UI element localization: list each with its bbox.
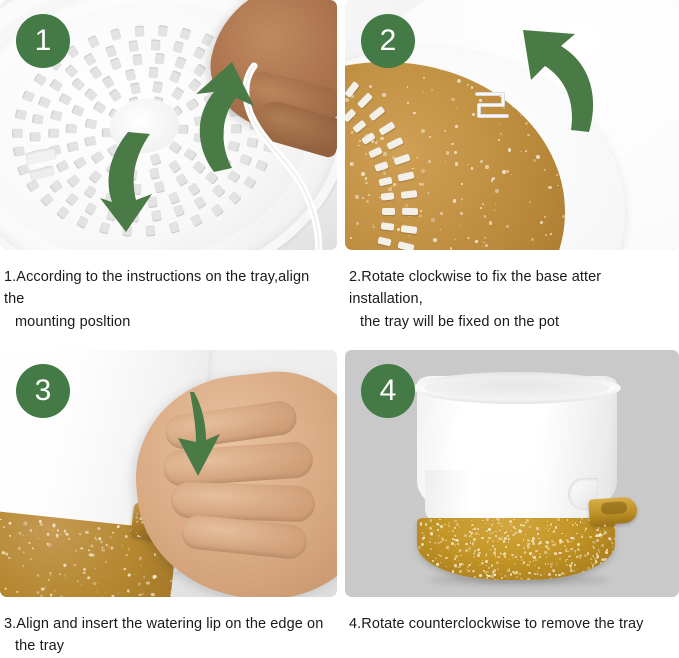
base-speckle xyxy=(547,563,549,565)
base-speckle xyxy=(550,523,553,526)
base-drain-slot xyxy=(378,176,392,186)
base-drain-slot xyxy=(345,108,357,122)
base-speckle xyxy=(491,564,494,567)
base-speckle xyxy=(572,537,574,539)
base-speckle xyxy=(494,579,495,580)
base-speckle xyxy=(128,573,131,576)
base-speckle xyxy=(601,537,602,538)
base-speckle xyxy=(486,518,488,520)
base-speckle xyxy=(494,574,496,576)
base-speckle xyxy=(430,538,431,539)
base-speckle xyxy=(557,518,560,521)
base-speckle xyxy=(500,523,501,524)
step-caption-2: 2.Rotate clockwise to fix the base atter… xyxy=(345,250,679,350)
base-speckle xyxy=(443,578,444,579)
base-speckle xyxy=(453,579,456,580)
base-speckle xyxy=(596,539,599,542)
base-speckle xyxy=(488,537,491,540)
tray-perforation xyxy=(48,129,59,138)
base-speckle xyxy=(4,588,6,590)
base-speckle xyxy=(441,550,442,551)
base-speckle xyxy=(430,532,432,534)
base-speckle xyxy=(566,559,567,560)
tray-perforation xyxy=(180,27,192,40)
base-speckle xyxy=(485,555,487,557)
base-speckle xyxy=(464,534,467,537)
base-speckle xyxy=(504,575,506,577)
base-speckle xyxy=(488,528,491,531)
base-speckle xyxy=(50,572,52,574)
base-speckle xyxy=(547,521,548,522)
base-speckle xyxy=(582,522,583,523)
base-speckle xyxy=(105,561,107,563)
base-speckle xyxy=(487,542,488,543)
base-speckle xyxy=(40,594,44,597)
base-speckle xyxy=(5,553,8,556)
base-speckle xyxy=(431,577,432,578)
base-speckle xyxy=(550,563,552,565)
base-speckle xyxy=(538,543,540,545)
base-speckle xyxy=(100,582,102,584)
base-speckle xyxy=(9,522,12,525)
base-speckle xyxy=(427,554,429,556)
base-speckle xyxy=(570,541,571,542)
base-speckle xyxy=(495,535,497,537)
base-drain-slot xyxy=(393,154,410,166)
base-speckle xyxy=(514,528,515,529)
base-speckle xyxy=(418,576,419,577)
base-drain-slot xyxy=(382,208,395,215)
base-speckle xyxy=(445,540,446,541)
tray-perforation xyxy=(193,195,206,209)
base-speckle xyxy=(141,565,142,566)
base-speckle xyxy=(445,557,447,559)
base-speckle xyxy=(536,573,538,575)
base-speckle xyxy=(479,574,482,577)
base-speckle xyxy=(576,533,578,535)
base-speckle xyxy=(492,540,494,542)
base-speckle xyxy=(462,520,463,521)
base-speckle xyxy=(459,549,461,551)
base-speckle xyxy=(433,530,434,531)
base-speckle xyxy=(422,532,424,534)
base-speckle xyxy=(600,531,601,532)
base-speckle xyxy=(490,549,491,550)
base-speckle xyxy=(517,559,519,561)
base-speckle xyxy=(523,539,524,540)
base-speckle xyxy=(134,574,136,576)
base-speckle xyxy=(100,540,103,543)
base-speckle xyxy=(502,536,503,537)
base-speckle xyxy=(508,538,510,540)
base-speckle xyxy=(555,522,556,523)
base-speckle xyxy=(440,555,442,557)
base-speckle xyxy=(577,543,579,545)
step-badge-1: 1 xyxy=(16,14,70,68)
base-speckle xyxy=(506,531,507,532)
tray-perforation xyxy=(132,54,142,66)
base-speckle xyxy=(497,579,498,580)
base-speckle xyxy=(529,526,531,528)
base-speckle xyxy=(590,574,592,576)
base-speckle xyxy=(544,573,545,574)
base-speckle xyxy=(29,542,31,544)
base-speckle xyxy=(548,530,549,531)
base-speckle xyxy=(430,519,432,521)
base-speckle xyxy=(473,533,474,534)
base-speckle xyxy=(575,552,577,554)
base-speckle xyxy=(539,553,541,555)
base-speckle xyxy=(581,536,583,538)
base-speckle xyxy=(486,574,488,576)
base-speckle xyxy=(562,533,563,534)
base-speckle xyxy=(501,525,503,527)
base-speckle xyxy=(30,558,32,560)
step-1-caption-line-2: mounting posltion xyxy=(4,311,327,333)
base-speckle xyxy=(440,541,442,543)
step-panel-2[interactable]: 2 xyxy=(345,0,679,250)
base-speckle xyxy=(520,556,522,558)
step-panel-3[interactable]: 3 xyxy=(0,350,337,597)
base-speckle xyxy=(35,531,36,532)
base-speckle xyxy=(95,591,97,593)
step-1-caption-line-1: 1.According to the instructions on the t… xyxy=(4,269,309,307)
base-drain-slot xyxy=(345,81,360,98)
base-speckle xyxy=(433,575,435,577)
base-speckle xyxy=(545,563,547,565)
tray-perforation xyxy=(148,67,158,79)
base-speckle xyxy=(48,579,50,581)
base-speckle xyxy=(40,523,43,526)
step-caption-3: 3.Align and insert the watering lip on t… xyxy=(0,597,337,652)
watering-spout-opening xyxy=(601,501,628,515)
base-speckle xyxy=(53,589,56,592)
base-speckle xyxy=(528,564,530,566)
base-speckle xyxy=(29,529,31,531)
base-speckle xyxy=(558,576,559,577)
base-speckle xyxy=(429,541,431,543)
tray-perforation xyxy=(243,175,257,189)
tray-perforation xyxy=(190,213,203,227)
base-speckle xyxy=(97,527,100,530)
base-speckle xyxy=(584,530,586,532)
base-speckle xyxy=(500,553,501,554)
base-speckle xyxy=(454,565,455,566)
tray-perforation xyxy=(158,25,168,37)
base-speckle xyxy=(110,546,114,550)
base-speckle xyxy=(481,563,483,565)
base-speckle xyxy=(127,589,129,591)
base-speckle xyxy=(485,523,486,524)
base-speckle xyxy=(524,551,526,553)
base-speckle xyxy=(420,523,422,525)
base-drain-slot xyxy=(357,93,373,109)
base-speckle xyxy=(18,547,21,550)
base-speckle xyxy=(493,569,496,572)
base-speckle xyxy=(497,522,499,524)
base-speckle xyxy=(459,570,462,573)
base-speckle xyxy=(501,577,503,579)
base-speckle xyxy=(421,543,424,546)
tray-perforation xyxy=(30,133,41,142)
base-speckle xyxy=(41,587,44,590)
base-speckle xyxy=(601,544,604,547)
base-speckle xyxy=(547,530,548,531)
tray-perforation xyxy=(125,69,136,82)
base-speckle xyxy=(101,548,105,552)
step-panel-4[interactable]: 4 xyxy=(345,350,679,597)
base-speckle xyxy=(434,542,436,544)
tray-perforation xyxy=(193,46,206,60)
base-speckle xyxy=(598,527,600,529)
base-speckle xyxy=(546,541,549,544)
base-speckle xyxy=(170,580,172,582)
base-speckle xyxy=(478,548,481,551)
tray-perforation xyxy=(50,110,63,121)
base-speckle xyxy=(139,560,140,561)
step-badge-3: 3 xyxy=(16,364,70,418)
base-speckle xyxy=(468,570,470,572)
base-speckle xyxy=(486,577,488,579)
base-speckle xyxy=(50,593,53,596)
base-speckle xyxy=(513,571,516,574)
base-speckle xyxy=(68,538,70,540)
base-drain-slot xyxy=(378,121,395,135)
base-speckle xyxy=(439,519,440,520)
base-speckle xyxy=(129,564,130,565)
base-speckle xyxy=(481,537,484,540)
base-speckle xyxy=(505,546,507,548)
base-speckle xyxy=(545,528,546,529)
base-speckle xyxy=(559,558,561,560)
base-speckle xyxy=(444,524,445,525)
base-speckle xyxy=(611,542,613,544)
base-speckle xyxy=(69,592,70,593)
base-speckle xyxy=(522,579,523,580)
base-speckle xyxy=(473,572,474,573)
tray-perforation xyxy=(210,203,224,217)
tray-perforation xyxy=(212,184,226,198)
step-2-caption-line-2: the tray will be fixed on the pot xyxy=(349,311,669,333)
base-speckle xyxy=(555,526,557,528)
base-speckle xyxy=(65,533,68,536)
base-drain-slot xyxy=(386,137,403,150)
base-speckle xyxy=(489,533,491,535)
base-speckle xyxy=(561,541,564,544)
base-speckle xyxy=(136,516,138,518)
base-speckle xyxy=(561,572,564,575)
base-speckle xyxy=(577,569,579,571)
base-speckle xyxy=(587,552,589,554)
base-speckle xyxy=(93,582,97,586)
base-speckle xyxy=(478,552,480,554)
steps-grid: 1 2 1.According to the instr xyxy=(0,0,679,652)
tray-perforation xyxy=(187,182,201,196)
curved-arrow-down-left-icon xyxy=(92,128,172,238)
base-speckle xyxy=(567,533,568,534)
base-speckle xyxy=(534,553,535,554)
tray-perforation xyxy=(40,193,54,207)
base-speckle xyxy=(16,591,18,593)
base-speckle xyxy=(45,586,47,588)
base-speckle xyxy=(507,577,508,578)
base-speckle xyxy=(492,545,494,547)
base-speckle xyxy=(125,554,127,556)
tray-perforation xyxy=(228,190,242,204)
tray-perforation xyxy=(55,160,69,173)
base-speckle xyxy=(430,568,431,569)
base-speckle xyxy=(74,563,76,565)
base-speckle xyxy=(491,575,494,578)
base-speckle xyxy=(492,520,493,521)
arrow-down-icon xyxy=(168,390,228,480)
base-speckle xyxy=(552,544,554,546)
base-speckle xyxy=(587,567,589,569)
base-speckle xyxy=(571,548,573,550)
base-speckle xyxy=(577,548,579,550)
tray-perforation xyxy=(22,90,36,102)
tray-perforation xyxy=(38,95,52,107)
base-speckle xyxy=(488,567,490,569)
base-speckle xyxy=(468,547,471,550)
base-speckle xyxy=(486,565,487,566)
base-speckle xyxy=(539,556,541,558)
base-speckle xyxy=(455,536,456,537)
base-speckle xyxy=(106,544,108,546)
base-speckle xyxy=(525,522,527,524)
base-speckle xyxy=(471,520,472,521)
step-panel-1[interactable]: 1 xyxy=(0,0,337,250)
base-speckle xyxy=(468,577,470,579)
base-speckle xyxy=(448,531,449,532)
base-speckle xyxy=(592,546,593,547)
base-speckle xyxy=(503,518,504,519)
base-speckle xyxy=(494,550,496,552)
tray-perforation xyxy=(152,81,163,94)
base-speckle xyxy=(487,571,489,573)
base-speckle xyxy=(553,530,556,533)
base-speckle xyxy=(136,512,138,514)
base-speckle xyxy=(504,537,507,540)
base-drain-slot xyxy=(361,132,376,145)
base-speckle xyxy=(517,544,519,546)
tray-perforation xyxy=(110,58,122,71)
base-speckle xyxy=(60,534,61,535)
curved-arrow-up-left-icon xyxy=(503,28,603,134)
base-speckle xyxy=(584,554,587,557)
base-speckle xyxy=(522,524,525,527)
base-speckle xyxy=(487,540,489,542)
step-4-caption-line-1: 4.Rotate counterclockwise to remove the … xyxy=(349,616,644,632)
tray-perforation xyxy=(151,39,161,51)
base-speckle xyxy=(599,534,602,537)
tray-perforation xyxy=(83,53,96,67)
base-speckle xyxy=(472,542,474,544)
base-speckle xyxy=(2,526,5,529)
base-speckle xyxy=(448,522,450,524)
base-speckle xyxy=(450,578,452,580)
tray-perforation xyxy=(66,123,78,133)
tray-perforation xyxy=(110,28,122,41)
base-speckle xyxy=(118,592,119,593)
base-speckle xyxy=(614,526,615,529)
base-speckle xyxy=(19,532,22,535)
base-speckle xyxy=(95,568,96,569)
base-speckle xyxy=(529,561,531,563)
tray-perforation xyxy=(201,33,214,47)
base-speckle xyxy=(24,522,28,526)
base-speckle xyxy=(423,537,425,539)
base-drain-slot xyxy=(400,225,417,234)
base-speckle xyxy=(447,579,449,580)
base-speckle xyxy=(475,532,478,535)
base-speckle xyxy=(612,551,614,553)
base-speckle xyxy=(535,565,536,566)
base-speckle xyxy=(430,548,432,550)
base-speckle xyxy=(558,552,561,555)
base-speckle xyxy=(111,594,115,597)
tray-perforation xyxy=(12,128,23,137)
base-speckle xyxy=(22,552,24,554)
base-speckle xyxy=(544,551,546,553)
base-speckle xyxy=(471,532,473,534)
base-speckle xyxy=(481,527,482,528)
base-speckle xyxy=(593,547,595,549)
base-speckle xyxy=(454,527,456,529)
base-speckle xyxy=(527,539,530,542)
base-speckle xyxy=(592,564,594,566)
base-speckle xyxy=(441,537,444,540)
instruction-sheet: 1 2 1.According to the instr xyxy=(0,0,679,652)
base-speckle xyxy=(508,541,509,542)
base-speckle xyxy=(448,525,450,527)
base-speckle xyxy=(452,530,454,532)
base-speckle xyxy=(564,573,565,574)
base-speckle xyxy=(109,575,110,576)
base-speckle xyxy=(564,545,566,547)
base-speckle xyxy=(554,530,555,531)
base-speckle xyxy=(116,525,119,528)
base-speckle xyxy=(440,525,443,528)
base-speckle xyxy=(565,560,567,562)
base-speckle xyxy=(128,548,130,550)
base-speckle xyxy=(156,556,157,557)
base-speckle xyxy=(513,519,514,520)
base-speckle xyxy=(436,563,439,566)
base-speckle xyxy=(514,563,516,565)
base-drain-slot xyxy=(378,237,392,247)
tray-perforation xyxy=(15,109,28,120)
base-speckle xyxy=(555,518,556,519)
base-speckle xyxy=(551,540,553,542)
tray-perforation xyxy=(17,163,30,175)
base-speckle xyxy=(567,551,568,552)
base-speckle xyxy=(458,566,461,569)
step-3-caption-line-1: 3.Align and insert the watering lip on t… xyxy=(4,616,323,632)
base-speckle xyxy=(527,578,529,580)
base-speckle xyxy=(507,569,510,572)
base-speckle xyxy=(0,519,1,520)
base-drain-slot xyxy=(397,241,414,250)
base-speckle xyxy=(479,565,480,566)
base-speckle xyxy=(37,574,40,577)
base-speckle xyxy=(594,569,596,571)
base-speckle xyxy=(512,534,515,537)
base-speckle xyxy=(548,553,549,554)
tray-perforation xyxy=(33,73,47,87)
base-speckle xyxy=(582,534,583,535)
base-speckle xyxy=(144,576,145,577)
